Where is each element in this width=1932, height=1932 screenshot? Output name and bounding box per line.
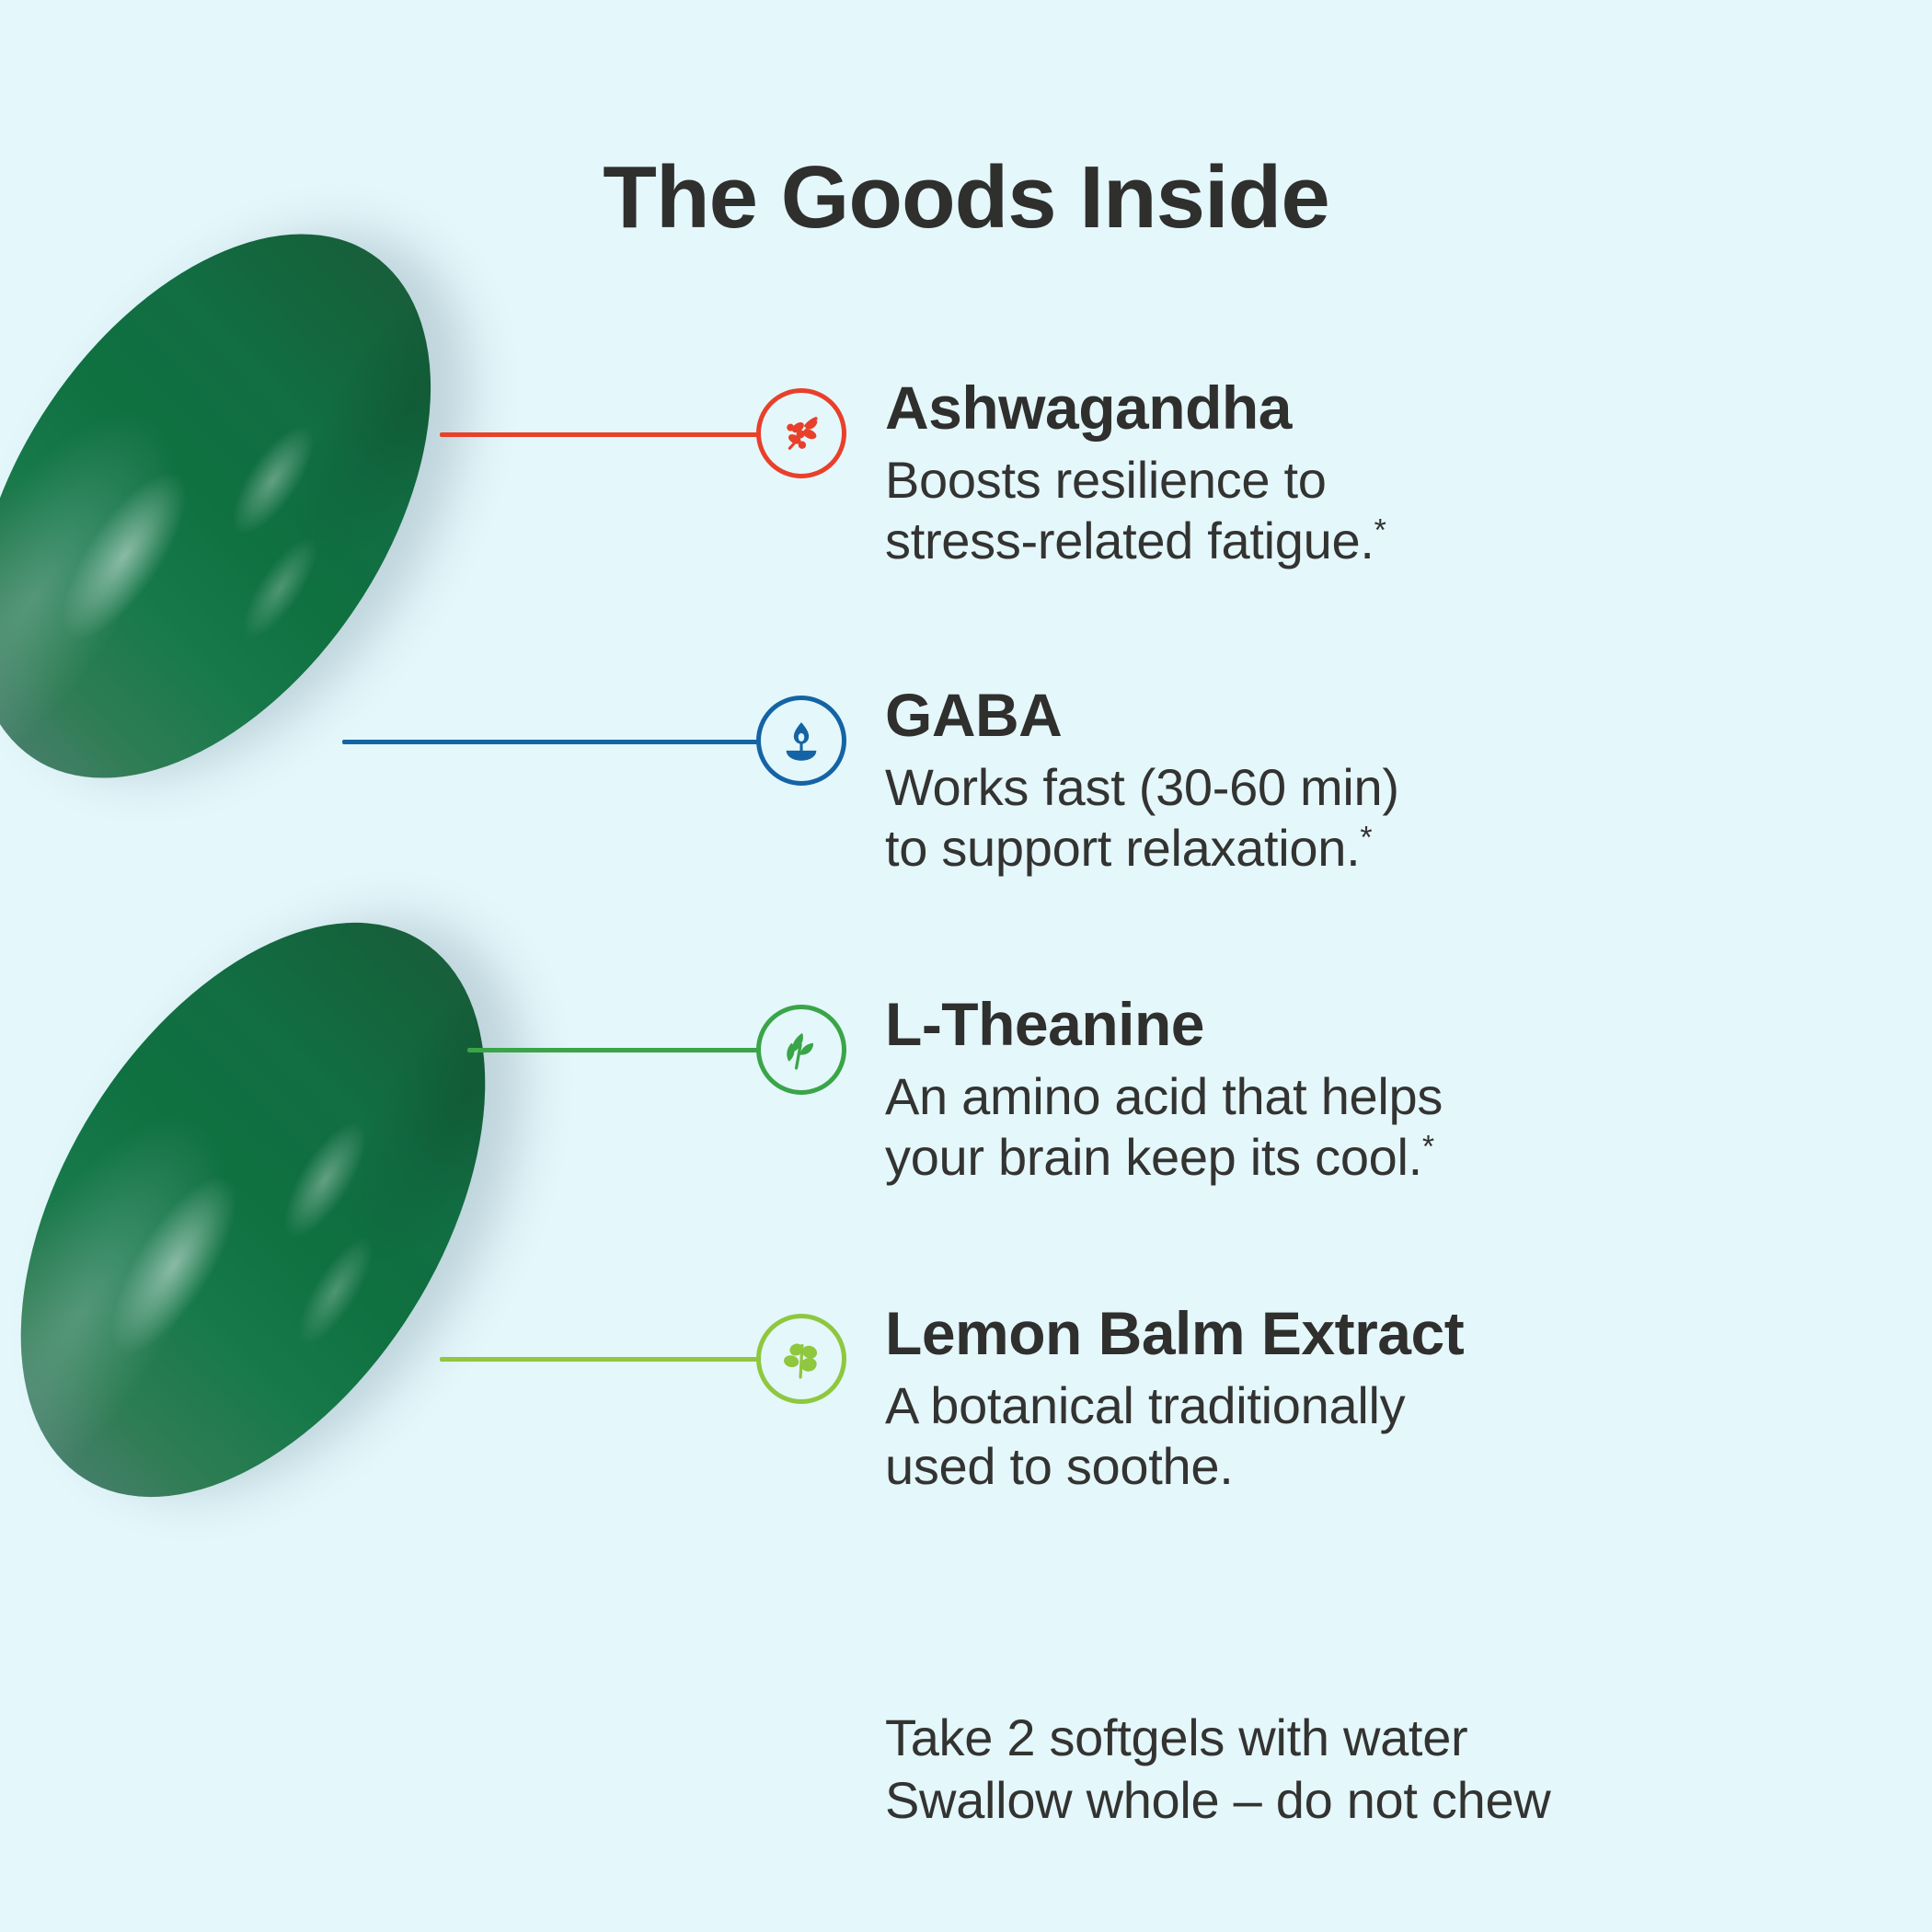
usage-line-1: Take 2 softgels with water [885, 1707, 1550, 1769]
softgel-capsule-bottom [0, 841, 581, 1579]
page-title: The Goods Inside [0, 152, 1932, 245]
ingredient-description: An amino acid that helps your brain keep… [885, 1066, 1667, 1188]
ingredient-text-block: L-Theanine An amino acid that helps your… [885, 992, 1667, 1188]
mint-sprig-icon [756, 1314, 846, 1404]
description-line-2: used to soothe. [885, 1437, 1233, 1495]
herb-sprig-icon [756, 388, 846, 478]
ingredient-text-block: Ashwagandha Boosts resilience to stress-… [885, 375, 1667, 571]
asterisk-mark: * [1422, 1130, 1434, 1165]
connector-line-gaba [342, 740, 764, 744]
ingredient-description: Works fast (30-60 min) to support relaxa… [885, 757, 1667, 879]
ingredient-text-block: Lemon Balm Extract A botanical tradition… [885, 1301, 1667, 1497]
usage-line-2: Swallow whole – do not chew [885, 1769, 1550, 1832]
asterisk-mark: * [1360, 821, 1372, 856]
softgel-capsule-top [0, 152, 524, 861]
connector-line-ltheanine [467, 1048, 764, 1052]
connector-line-ashwagandha [440, 432, 764, 437]
description-line-2: to support relaxation. [885, 819, 1360, 877]
description-line-1: A botanical traditionally [885, 1376, 1405, 1434]
ingredient-name: Ashwagandha [885, 375, 1667, 441]
infographic-page: The Goods Inside [0, 0, 1932, 1932]
description-line-2: your brain keep its cool. [885, 1128, 1422, 1186]
ingredient-description: A botanical traditionally used to soothe… [885, 1375, 1667, 1497]
ingredient-text-block: GABA Works fast (30-60 min) to support r… [885, 683, 1667, 879]
oil-lamp-icon [756, 696, 846, 786]
description-line-1: An amino acid that helps [885, 1067, 1443, 1125]
asterisk-mark: * [1374, 513, 1386, 548]
usage-instructions: Take 2 softgels with water Swallow whole… [885, 1707, 1550, 1833]
tea-leaf-icon [756, 1005, 846, 1095]
description-line-1: Works fast (30-60 min) [885, 758, 1399, 816]
description-line-2: stress-related fatigue. [885, 512, 1374, 569]
connector-line-lemonbalm [440, 1357, 764, 1362]
ingredient-name: L-Theanine [885, 992, 1667, 1057]
ingredient-description: Boosts resilience to stress-related fati… [885, 450, 1667, 571]
ingredient-name: Lemon Balm Extract [885, 1301, 1667, 1366]
ingredient-name: GABA [885, 683, 1667, 748]
description-line-1: Boosts resilience to [885, 451, 1327, 509]
